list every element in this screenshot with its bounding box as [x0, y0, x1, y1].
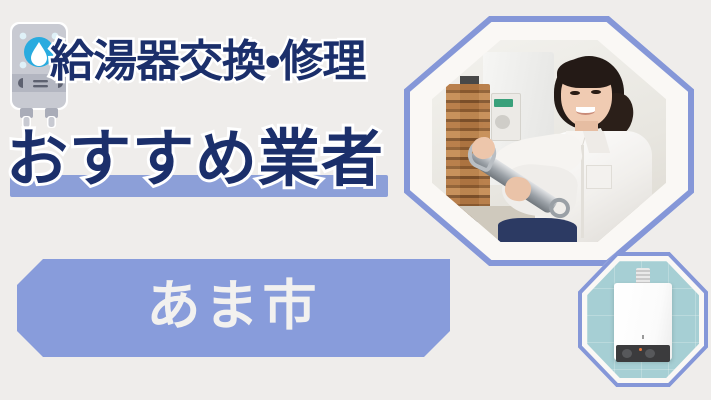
city-button[interactable]: あま市 — [17, 259, 450, 357]
technician-photo-frame — [404, 16, 694, 266]
technician-photo — [432, 40, 666, 242]
water-heater-product-photo — [587, 261, 699, 378]
headline-line-1: 給湯器交換•修理 — [50, 40, 365, 84]
headline-line-2: おすすめ業者 — [6, 129, 384, 191]
banner-root: 給湯器交換•修理 おすすめ業者 あま市 — [0, 0, 711, 400]
headline-block: 給湯器交換•修理 おすすめ業者 — [0, 36, 420, 216]
city-button-label: あま市 — [147, 279, 321, 337]
product-photo-frame — [578, 252, 708, 387]
